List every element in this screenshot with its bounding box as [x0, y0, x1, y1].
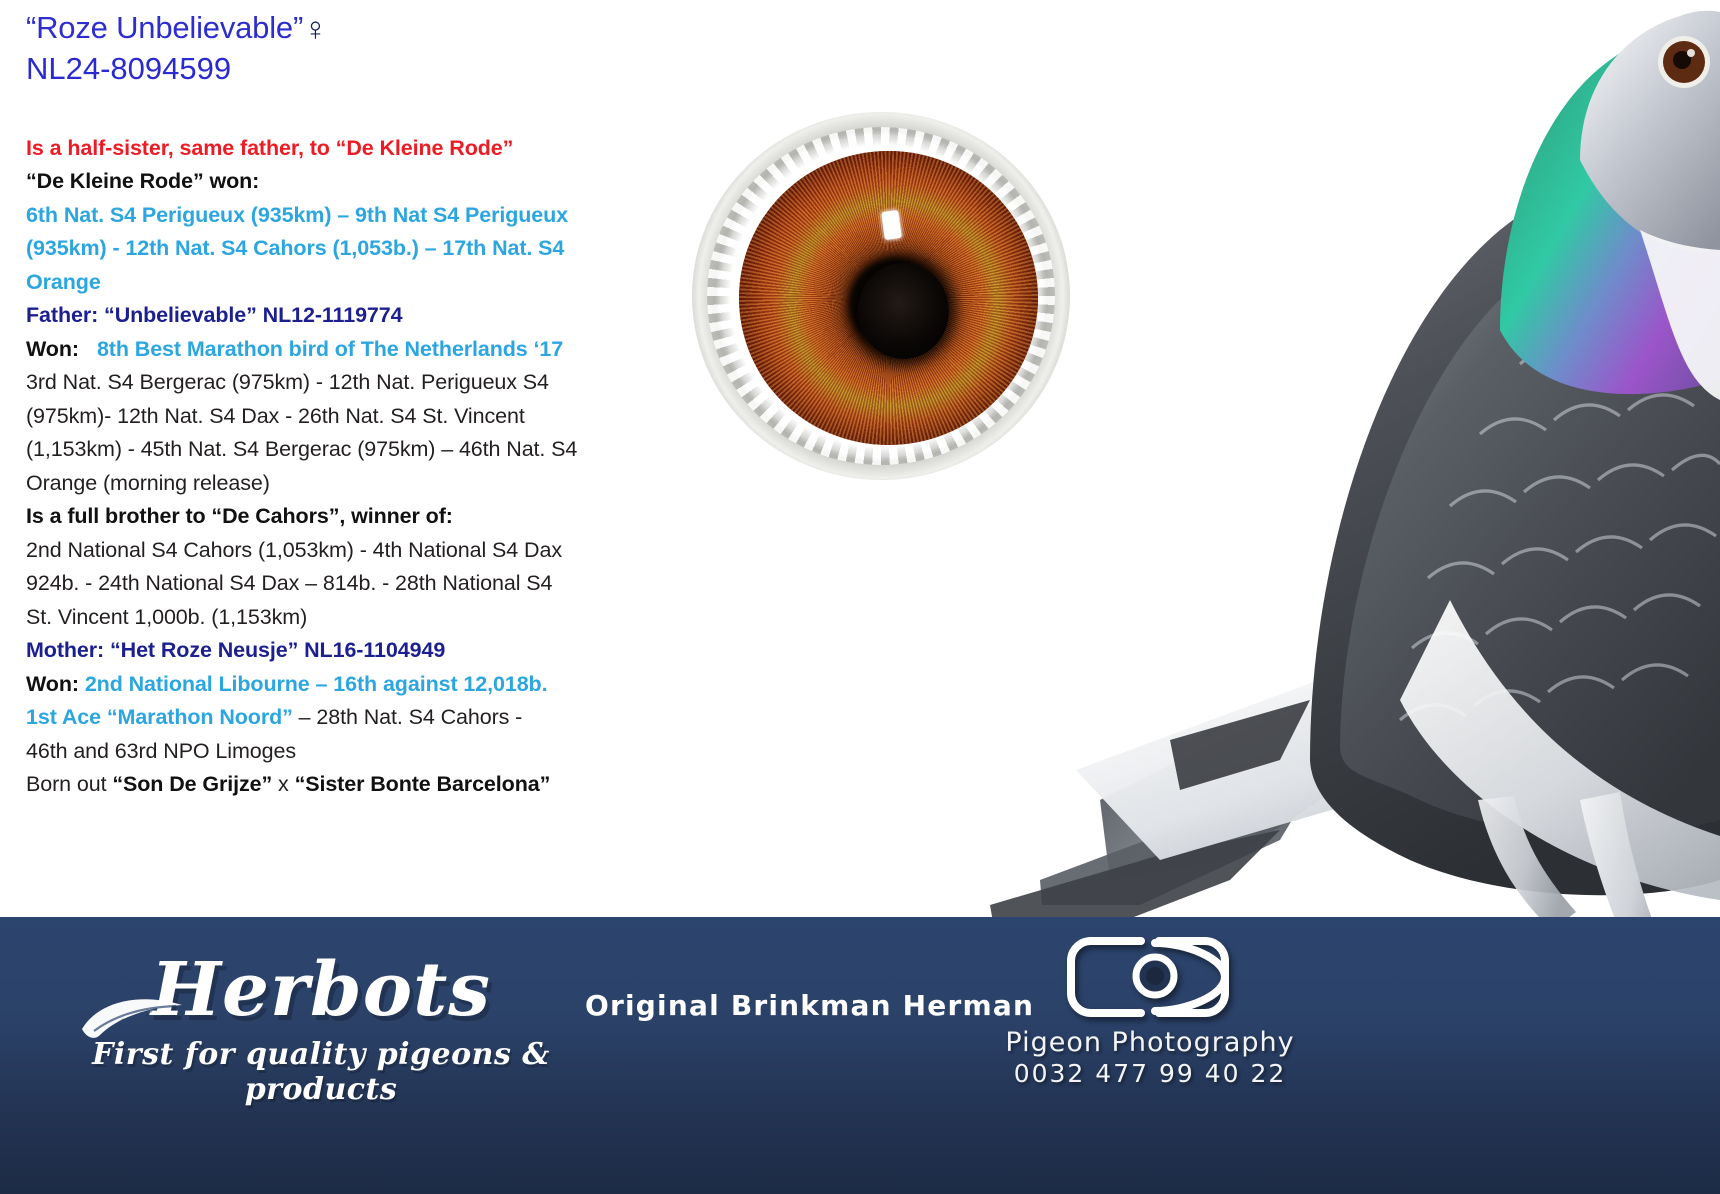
born-out-sire: “Son De Grijze” [112, 772, 272, 796]
pigeon-wing [1340, 200, 1720, 836]
father-won-highlight: 8th Best Marathon bird of The Netherland… [97, 337, 563, 361]
born-out-prefix: Born out [26, 772, 112, 796]
father-label: Father: “Unbelievable” NL12-1119774 [26, 299, 686, 333]
full-brother-result-line: 2nd National S4 Cahors (1,053km) - 4th N… [26, 534, 686, 568]
herbots-logo: Herbots First for quality pigeons & prod… [86, 953, 556, 1107]
pigeon-wing-bar [1170, 700, 1310, 790]
pigeon-head-eye-ring [1658, 36, 1710, 88]
pigeon-leg-back [1478, 796, 1576, 930]
father-won-line: Won:8th Best Marathon bird of The Nether… [26, 333, 686, 367]
kleine-rode-result-line: 6th Nat. S4 Perigueux (935km) – 9th Nat … [26, 199, 686, 233]
pigeon-name-text: “Roze Unbelievable” [26, 10, 303, 45]
mother-won-line: Won: 2nd National Libourne – 16th agains… [26, 668, 686, 702]
pedigree-text-panel: “Roze Unbelievable”♀ NL24-8094599 Is a h… [26, 10, 686, 802]
mother-ace-line: 1st Ace “Marathon Noord” – 28th Nat. S4 … [26, 701, 686, 735]
pedigree-body: Is a half-sister, same father, to “De Kl… [26, 132, 686, 802]
full-brother-result-line: 924b. - 24th National S4 Dax – 814b. - 2… [26, 567, 686, 601]
kleine-rode-result-line: (935km) - 12th Nat. S4 Cahors (1,053b.) … [26, 232, 686, 266]
father-result-line: Orange (morning release) [26, 467, 686, 501]
breeder-credit: Original Brinkman Herman [585, 989, 1034, 1022]
pigeon-head [1580, 11, 1720, 252]
cs-camera-monogram-icon [1055, 929, 1245, 1025]
feather-icon [78, 989, 188, 1047]
mother-won-label: Won: [26, 672, 79, 696]
pigeon-tail [1100, 690, 1400, 880]
father-result-line: 3rd Nat. S4 Bergerac (975km) - 12th Nat.… [26, 366, 686, 400]
pedigree-card: “Roze Unbelievable”♀ NL24-8094599 Is a h… [0, 0, 1720, 1194]
pigeon-head-eye-iris [1663, 41, 1705, 83]
full-brother-heading: Is a full brother to “De Cahors”, winner… [26, 500, 686, 534]
father-result-line: (1,153km) - 45th Nat. S4 Bergerac (975km… [26, 433, 686, 467]
eye-pupil [858, 263, 949, 359]
footer-bar: Herbots First for quality pigeons & prod… [0, 917, 1720, 1194]
herbots-tagline: First for quality pigeons & products [86, 1037, 556, 1107]
pigeon-tail-lower [1040, 790, 1310, 905]
born-out-dam: “Sister Bonte Barcelona” [295, 772, 551, 796]
pigeon-flight-feathers [1076, 650, 1540, 860]
kleine-rode-result-line: Orange [26, 266, 686, 300]
kleine-rode-heading: “De Kleine Rode” won: [26, 165, 686, 199]
pigeon-name-title: “Roze Unbelievable”♀ [26, 10, 686, 49]
cs-photography-logo: Pigeon Photography 0032 477 99 40 22 [1000, 929, 1300, 1088]
father-won-label: Won: [26, 337, 79, 361]
pigeon-body [1310, 147, 1720, 895]
father-result-line: (975km)- 12th Nat. S4 Dax - 26th Nat. S4… [26, 400, 686, 434]
mother-ace-rest: – 28th Nat. S4 Cahors - [293, 705, 522, 729]
cs-studio-name: Pigeon Photography [1000, 1027, 1300, 1058]
mother-label: Mother: “Het Roze Neusje” NL16-1104949 [26, 634, 686, 668]
female-sex-icon: ♀ [303, 10, 328, 47]
born-out-x: x [272, 772, 294, 796]
pigeon-neck-iridescence [1500, 18, 1720, 394]
half-sister-note: Is a half-sister, same father, to “De Kl… [26, 132, 686, 166]
pigeon-feather-scales [1400, 327, 1720, 720]
pigeon-throat [1640, 230, 1720, 400]
mother-ace-title: 1st Ace “Marathon Noord” [26, 705, 293, 729]
pigeon-breast [1400, 600, 1720, 900]
pigeon-tail-tip [990, 830, 1280, 930]
born-out-line: Born out “Son De Grijze” x “Sister Bonte… [26, 768, 686, 802]
pigeon-eye-photo [692, 112, 1070, 480]
full-brother-result-line: St. Vincent 1,000b. (1,153km) [26, 601, 686, 635]
pigeon-head-eye-glint [1687, 49, 1695, 57]
pigeon-head-eye-pupil [1673, 51, 1691, 69]
ring-number: NL24-8094599 [26, 51, 686, 88]
mother-won-highlight: 2nd National Libourne – 16th against 12,… [85, 672, 548, 696]
cs-phone-number: 0032 477 99 40 22 [1000, 1059, 1300, 1088]
mother-result-line: 46th and 63rd NPO Limoges [26, 735, 686, 769]
